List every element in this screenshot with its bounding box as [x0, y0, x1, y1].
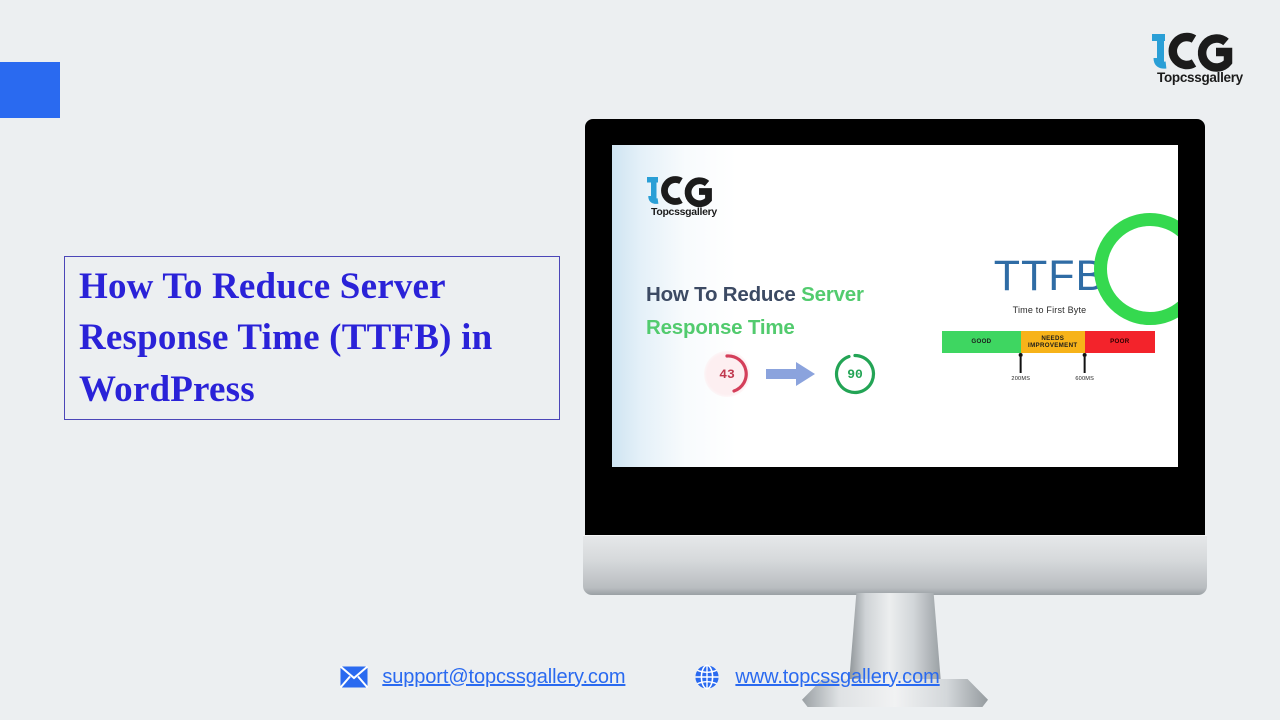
monitor-screen: Topcssgallery How To Reduce Server Respo… [612, 145, 1178, 467]
globe-icon [693, 664, 721, 690]
ttfb-tick-200ms-label: 200MS [1011, 376, 1030, 382]
email-link[interactable]: support@topcssgallery.com [382, 666, 625, 689]
svg-text:Topcssgallery: Topcssgallery [1157, 70, 1244, 85]
slide-headline: How To Reduce Server Response Time [646, 278, 916, 344]
ttfb-segment-poor: POOR [1085, 331, 1155, 353]
slide-headline-part1: How To Reduce [646, 283, 801, 306]
footer-website-item[interactable]: www.topcssgallery.com [693, 664, 939, 690]
gauge-after: 90 [832, 351, 878, 397]
brand-logo: Topcssgallery [1150, 28, 1246, 90]
ttfb-threshold-bar: GOOD NEEDS IMPROVEMENT POOR [942, 331, 1155, 353]
tick-line [1020, 357, 1021, 373]
ttfb-segment-needs-improvement: NEEDS IMPROVEMENT [1021, 331, 1085, 353]
monitor-mockup: Topcssgallery How To Reduce Server Respo… [585, 119, 1205, 624]
gauge-before-value: 43 [719, 367, 735, 382]
gauge-comparison: 43 90 [704, 351, 878, 397]
ttfb-tick-600ms-label: 600MS [1075, 376, 1094, 382]
slide-logo: Topcssgallery [646, 173, 724, 221]
slide-canvas: Topcssgallery How To Reduce Server Respo… [612, 145, 1178, 467]
monitor-chin [583, 535, 1207, 595]
ttfb-segment-good: GOOD [942, 331, 1021, 353]
blue-square-accent [0, 62, 60, 118]
page-title: How To Reduce Server Response Time (TTFB… [65, 261, 559, 415]
ttfb-tick-600ms: 600MS [1075, 353, 1094, 382]
monitor-bezel: Topcssgallery How To Reduce Server Respo… [585, 119, 1205, 539]
footer-contact-bar: support@topcssgallery.com www.topcssgall… [0, 664, 1280, 690]
website-link[interactable]: www.topcssgallery.com [735, 666, 939, 689]
ttfb-tick-labels: 200MS 600MS [942, 353, 1155, 391]
gauge-after-value: 90 [847, 367, 863, 382]
ttfb-tick-200ms: 200MS [1011, 353, 1030, 382]
tick-line [1084, 357, 1085, 373]
headline-card: How To Reduce Server Response Time (TTFB… [64, 256, 560, 420]
arrow-right-icon [766, 361, 816, 387]
footer-email-item[interactable]: support@topcssgallery.com [340, 664, 625, 690]
gauge-before: 43 [704, 351, 750, 397]
svg-text:Topcssgallery: Topcssgallery [651, 206, 717, 218]
envelope-icon [340, 664, 368, 690]
